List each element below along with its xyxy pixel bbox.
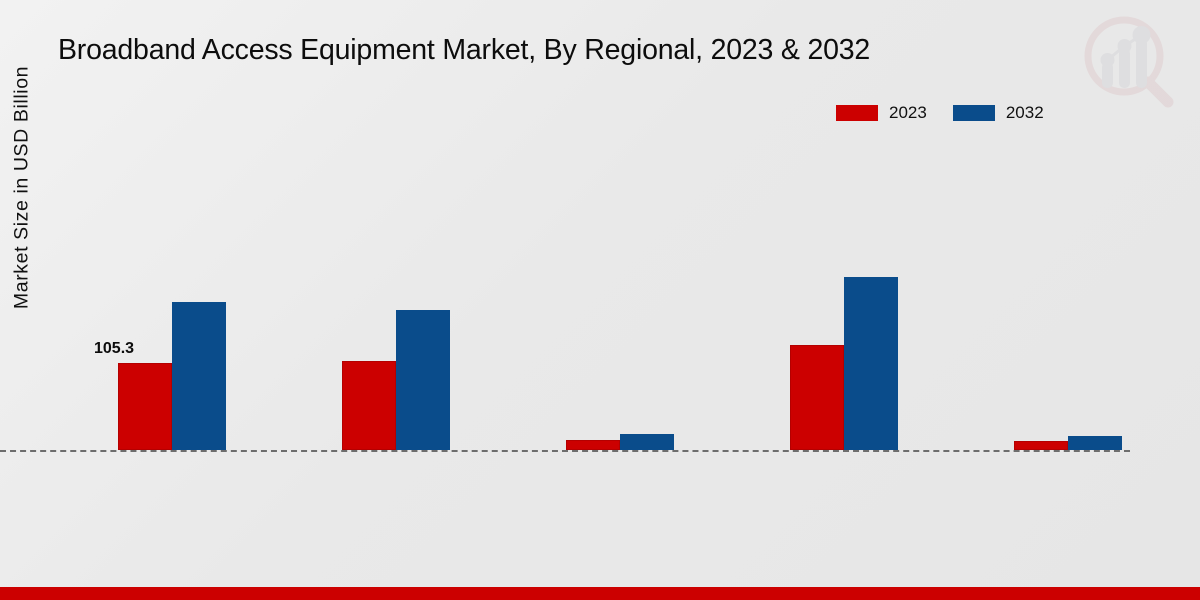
plot-area: 105.3 NORTH AMERICA EUROPE	[60, 150, 1180, 450]
bar-group-asia-pacific: ASIA PACIFIC	[732, 150, 956, 450]
bar-group-north-america: 105.3 NORTH AMERICA	[60, 150, 284, 450]
bar-pair	[342, 150, 450, 450]
bar-2032[interactable]	[620, 434, 674, 450]
bar-2032[interactable]	[396, 310, 450, 450]
bottom-accent-band	[0, 587, 1200, 600]
watermark-logo	[1072, 8, 1182, 118]
legend-swatch-2032	[953, 105, 995, 121]
bar-2032[interactable]	[1068, 436, 1122, 450]
bar-2023[interactable]	[342, 361, 396, 450]
bar-group-europe: EUROPE	[284, 150, 508, 450]
legend-swatch-2023	[836, 105, 878, 121]
bar-pair	[118, 150, 226, 450]
y-axis-title: Market Size in USD Billion	[11, 8, 34, 368]
chart-legend: 2023 2032	[836, 103, 1044, 123]
legend-item-2032[interactable]: 2032	[953, 103, 1044, 123]
chart-page: Broadband Access Equipment Market, By Re…	[0, 0, 1200, 600]
bar-pair	[566, 150, 674, 450]
bar-pair	[1014, 150, 1122, 450]
bar-group-south-america: SOUTH AMERICA	[508, 150, 732, 450]
bar-2023[interactable]	[790, 345, 844, 450]
bar-2032[interactable]	[172, 302, 226, 450]
bar-2032[interactable]	[844, 277, 898, 450]
chart-title: Broadband Access Equipment Market, By Re…	[58, 34, 870, 67]
bar-2023[interactable]	[1014, 441, 1068, 450]
legend-label-2032: 2032	[1006, 103, 1044, 123]
x-axis-baseline	[0, 450, 1130, 452]
bar-pair	[790, 150, 898, 450]
bar-value-label: 105.3	[94, 340, 134, 358]
bar-2023[interactable]	[566, 440, 620, 450]
bar-group-middle-east-and-africa: MIDDLE EAST AND AFRICA	[956, 150, 1180, 450]
legend-item-2023[interactable]: 2023	[836, 103, 927, 123]
legend-label-2023: 2023	[889, 103, 927, 123]
bar-2023[interactable]	[118, 363, 172, 450]
